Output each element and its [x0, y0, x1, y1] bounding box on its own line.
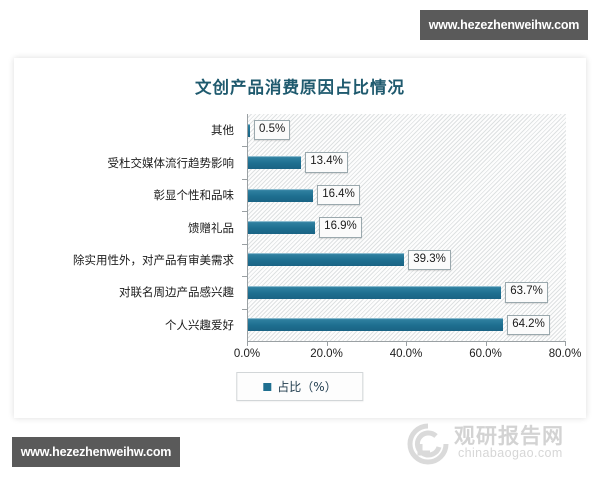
bar[interactable] — [248, 286, 501, 299]
x-axis-tick — [327, 341, 328, 346]
y-axis-tick — [242, 276, 247, 277]
y-axis-tick — [242, 146, 247, 147]
bar-row: 16.9% — [248, 219, 566, 237]
bar-value-label: 63.7% — [505, 282, 548, 303]
legend-label: 占比（%） — [277, 378, 336, 395]
category-label: 其他 — [211, 122, 234, 138]
y-axis-tick — [242, 179, 247, 180]
bar-rows: 0.5%13.4%16.4%16.9%39.3%63.7%64.2% — [248, 114, 566, 341]
y-axis-tick — [242, 309, 247, 310]
logo-text-en: chinabaogao.com — [458, 446, 563, 460]
bar-row: 63.7% — [248, 283, 566, 301]
logo-watermark: 观研报告网 chinabaogao.com — [406, 420, 600, 472]
plot-wrapper: 其他受杜交媒体流行趋势影响彰显个性和品味馈赠礼品除实用性外，对产品有审美需求对联… — [14, 58, 586, 418]
bar[interactable] — [248, 189, 313, 202]
bar-value-label: 39.3% — [408, 250, 451, 271]
logo-text-cn: 观研报告网 — [454, 420, 564, 450]
bar[interactable] — [248, 221, 315, 234]
x-axis-label: 80.0% — [549, 348, 582, 360]
category-label: 对联名周边产品感兴趣 — [119, 284, 234, 300]
category-label: 个人兴趣爱好 — [165, 317, 234, 333]
x-axis-label: 60.0% — [469, 348, 502, 360]
x-axis-label: 20.0% — [310, 348, 343, 360]
x-axis-tick — [247, 341, 248, 346]
category-axis-labels: 其他受杜交媒体流行趋势影响彰显个性和品味馈赠礼品除实用性外，对产品有审美需求对联… — [14, 114, 242, 341]
bar[interactable] — [248, 253, 404, 266]
y-axis-tick — [242, 244, 247, 245]
plot-area: 0.5%13.4%16.4%16.9%39.3%63.7%64.2% — [247, 114, 566, 342]
category-label: 馈赠礼品 — [188, 220, 234, 236]
chart-card: 文创产品消费原因占比情况 其他受杜交媒体流行趋势影响彰显个性和品味馈赠礼品除实用… — [14, 58, 586, 418]
legend-swatch-icon — [263, 383, 271, 391]
category-label: 除实用性外，对产品有审美需求 — [73, 252, 234, 268]
x-axis-label: 40.0% — [390, 348, 423, 360]
x-axis-tick — [406, 341, 407, 346]
bar-value-label: 16.9% — [319, 217, 362, 238]
chart-legend[interactable]: 占比（%） — [236, 372, 363, 401]
bar[interactable] — [248, 318, 503, 331]
bar-value-label: 64.2% — [507, 315, 550, 336]
bar-row: 0.5% — [248, 121, 566, 139]
spiral-logo-icon — [406, 422, 450, 466]
x-axis-tick — [565, 341, 566, 346]
bar-value-label: 16.4% — [317, 185, 360, 206]
bar-value-label: 13.4% — [305, 152, 348, 173]
bar-row: 39.3% — [248, 251, 566, 269]
bar-row: 64.2% — [248, 316, 566, 334]
bar-row: 16.4% — [248, 186, 566, 204]
bar[interactable] — [248, 124, 250, 137]
bar[interactable] — [248, 156, 301, 169]
x-axis-label: 0.0% — [234, 348, 260, 360]
top-watermark: www.hezezhenweihw.com — [420, 10, 588, 40]
category-label: 彰显个性和品味 — [154, 187, 235, 203]
y-axis-tick — [242, 211, 247, 212]
bottom-watermark: www.hezezhenweihw.com — [12, 437, 180, 467]
bar-value-label: 0.5% — [254, 120, 290, 141]
bar-row: 13.4% — [248, 154, 566, 172]
category-label: 受杜交媒体流行趋势影响 — [108, 155, 235, 171]
x-axis-tick — [486, 341, 487, 346]
